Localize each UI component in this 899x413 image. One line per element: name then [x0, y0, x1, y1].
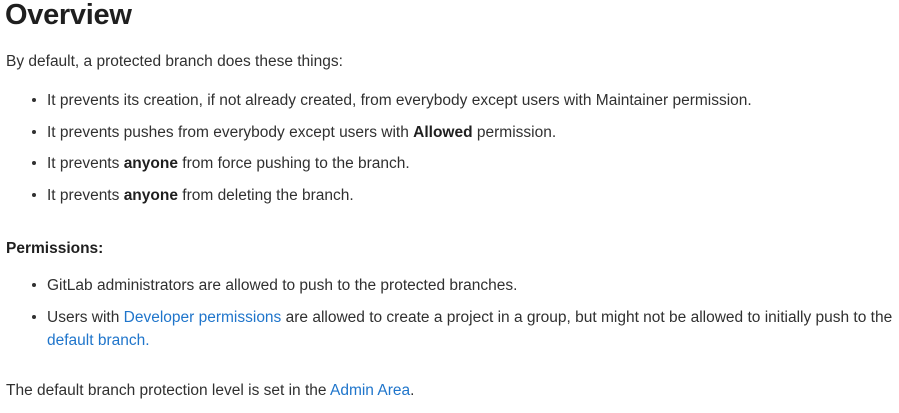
admin-area-link[interactable]: Admin Area [330, 382, 410, 399]
list-item-bold: Allowed [413, 124, 472, 141]
closing-text-suffix: . [410, 382, 414, 399]
list-item-bold: anyone [124, 155, 178, 172]
list-item: It prevents its creation, if not already… [0, 89, 899, 112]
permissions-section-label: Permissions: [6, 238, 103, 259]
list-item-text-suffix: from deleting the branch. [178, 187, 354, 204]
bullet-dot-icon [32, 130, 36, 134]
default-branch-link[interactable]: default branch [47, 332, 145, 349]
list-item-text-suffix: . [145, 332, 149, 349]
list-item-text-suffix: permission. [473, 124, 557, 141]
bullet-dot-icon [32, 283, 36, 287]
list-item-text: GitLab administrators are allowed to pus… [47, 277, 517, 294]
list-item-text-prefix: It prevents its creation, if not already… [47, 92, 752, 109]
list-item-text-suffix: from force pushing to the branch. [178, 155, 410, 172]
bullet-dot-icon [32, 193, 36, 197]
list-item: It prevents pushes from everybody except… [0, 121, 899, 144]
bullet-dot-icon [32, 98, 36, 102]
list-item-text-middle: are allowed to create a project in a gro… [281, 309, 892, 326]
permissions-list: GitLab administrators are allowed to pus… [0, 274, 899, 361]
list-item-text-prefix: It prevents [47, 155, 124, 172]
developer-permissions-link[interactable]: Developer permissions [124, 309, 282, 326]
list-item: GitLab administrators are allowed to pus… [0, 274, 899, 297]
list-item: It prevents anyone from deleting the bra… [0, 184, 899, 207]
list-item-bold: anyone [124, 187, 178, 204]
page-title: Overview [5, 0, 132, 33]
list-item-text-prefix: Users with [47, 309, 124, 326]
documentation-page: Overview By default, a protected branch … [0, 0, 899, 413]
protected-branch-behavior-list: It prevents its creation, if not already… [0, 89, 899, 215]
bullet-dot-icon [32, 161, 36, 165]
list-item-text-prefix: It prevents [47, 187, 124, 204]
closing-paragraph: The default branch protection level is s… [6, 380, 414, 401]
list-item: It prevents anyone from force pushing to… [0, 152, 899, 175]
closing-text-prefix: The default branch protection level is s… [6, 382, 330, 399]
list-item: Users with Developer permissions are all… [0, 306, 899, 352]
bullet-dot-icon [32, 315, 36, 319]
intro-paragraph: By default, a protected branch does thes… [6, 51, 343, 72]
list-item-text-prefix: It prevents pushes from everybody except… [47, 124, 413, 141]
